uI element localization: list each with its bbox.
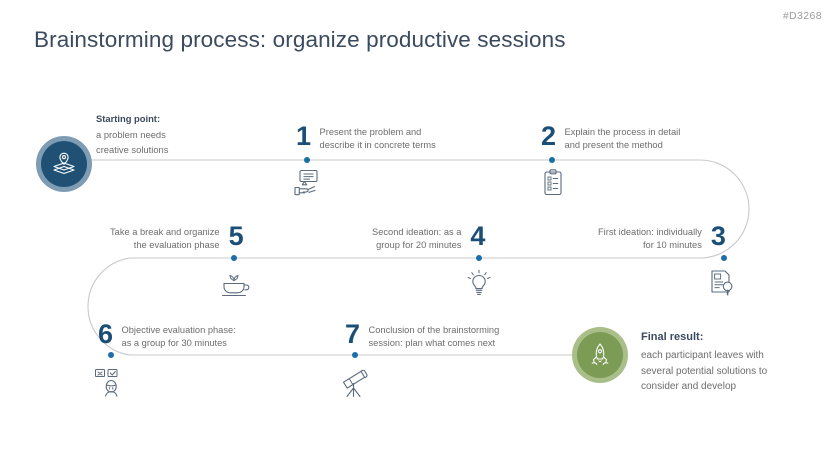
step-3[interactable]: First ideation: individually for 10 minu… xyxy=(598,224,725,253)
step-number: 4 xyxy=(470,224,485,250)
start-caption-line: creative solutions xyxy=(96,143,168,157)
step-5[interactable]: Take a break and organize the evaluation… xyxy=(110,224,243,253)
final-node-core xyxy=(577,332,623,378)
step-1[interactable]: 1 Present the problem and describe it in… xyxy=(296,124,436,153)
step-3-dot xyxy=(721,255,727,261)
final-caption-line: each participant leaves with xyxy=(641,348,767,364)
step-text: Present the problem and describe it in c… xyxy=(320,124,436,153)
step-number: 1 xyxy=(296,124,311,150)
step-text: Conclusion of the brainstorming session:… xyxy=(369,322,500,351)
start-node xyxy=(36,136,92,192)
step-6-dot xyxy=(108,352,114,358)
final-caption-heading: Final result: xyxy=(641,329,767,346)
speech-bubble-hand-icon xyxy=(293,168,327,198)
document-id: #D3268 xyxy=(783,10,822,22)
step-5-icon-wrap xyxy=(218,270,250,298)
step-4[interactable]: Second ideation: as a group for 20 minut… xyxy=(372,224,485,253)
step-text: Take a break and organize the evaluation… xyxy=(110,224,220,253)
step-7[interactable]: 7 Conclusion of the brainstorming sessio… xyxy=(345,322,499,351)
final-caption-line: consider and develop xyxy=(641,379,767,395)
step-text: Explain the process in detail and presen… xyxy=(565,124,681,153)
step-number: 2 xyxy=(541,124,556,150)
person-evaluation-icon xyxy=(93,368,127,398)
start-caption: Starting point: a problem needs creative… xyxy=(96,112,168,157)
step-3-icon-wrap xyxy=(708,269,738,297)
clipboard-checklist-icon xyxy=(541,168,567,198)
step-text: Second ideation: as a group for 20 minut… xyxy=(372,224,461,253)
step-4-icon-wrap xyxy=(466,269,492,297)
start-caption-line: a problem needs xyxy=(96,128,168,142)
telescope-icon xyxy=(340,368,374,400)
step-5-dot xyxy=(231,255,237,261)
step-number: 7 xyxy=(345,322,360,348)
step-number: 5 xyxy=(229,224,244,250)
step-text: First ideation: individually for 10 minu… xyxy=(598,224,702,253)
step-text: Objective evaluation phase: as a group f… xyxy=(122,322,236,351)
step-7-dot xyxy=(352,352,358,358)
step-number: 6 xyxy=(98,322,113,348)
rocket-icon xyxy=(585,340,615,370)
step-1-icon-wrap xyxy=(293,168,327,198)
step-6[interactable]: 6 Objective evaluation phase: as a group… xyxy=(98,322,236,351)
step-7-icon-wrap xyxy=(340,368,374,400)
start-caption-heading: Starting point: xyxy=(96,112,168,126)
document-magnifier-icon xyxy=(708,269,738,297)
step-2[interactable]: 2 Explain the process in detail and pres… xyxy=(541,124,680,153)
slide-canvas: #D3268 Brainstorming process: organize p… xyxy=(0,0,836,470)
step-2-dot xyxy=(549,157,555,163)
step-2-icon-wrap xyxy=(541,168,567,198)
lightbulb-icon xyxy=(466,269,492,297)
start-node-core xyxy=(41,141,87,187)
final-caption: Final result: each participant leaves wi… xyxy=(641,329,767,395)
step-6-icon-wrap xyxy=(93,368,127,398)
tea-cup-icon xyxy=(218,270,250,298)
final-node xyxy=(572,327,628,383)
step-number: 3 xyxy=(711,224,726,250)
final-caption-line: several potential solutions to xyxy=(641,364,767,380)
step-4-dot xyxy=(476,255,482,261)
step-1-dot xyxy=(304,157,310,163)
page-title: Brainstorming process: organize producti… xyxy=(34,27,566,53)
location-pin-layers-icon xyxy=(49,149,79,179)
